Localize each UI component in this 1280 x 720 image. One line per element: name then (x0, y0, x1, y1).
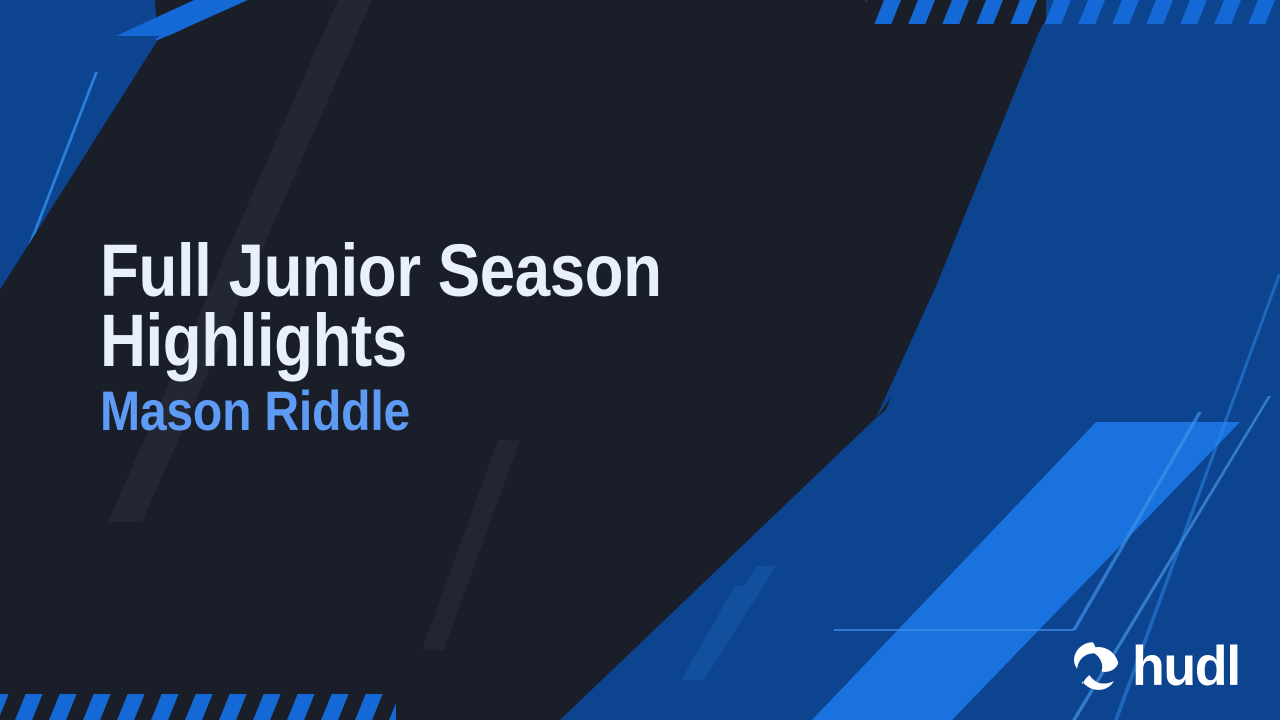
hudl-wordmark: hudl (1132, 638, 1240, 694)
highlight-title-card: Full Junior Season Highlights Mason Ridd… (0, 0, 1280, 720)
athlete-name: Mason Riddle (100, 383, 702, 439)
hatch-bottom-left (0, 694, 396, 720)
title-line-1: Full Junior Season (100, 236, 702, 306)
title-line-2: Highlights (100, 306, 702, 376)
title-block: Full Junior Season Highlights Mason Ridd… (100, 236, 800, 439)
hatch-top-right (866, 0, 1280, 24)
hairline-horizontal (834, 629, 1074, 631)
hudl-triad-icon (1068, 639, 1122, 693)
hudl-logo: hudl (1068, 638, 1244, 694)
